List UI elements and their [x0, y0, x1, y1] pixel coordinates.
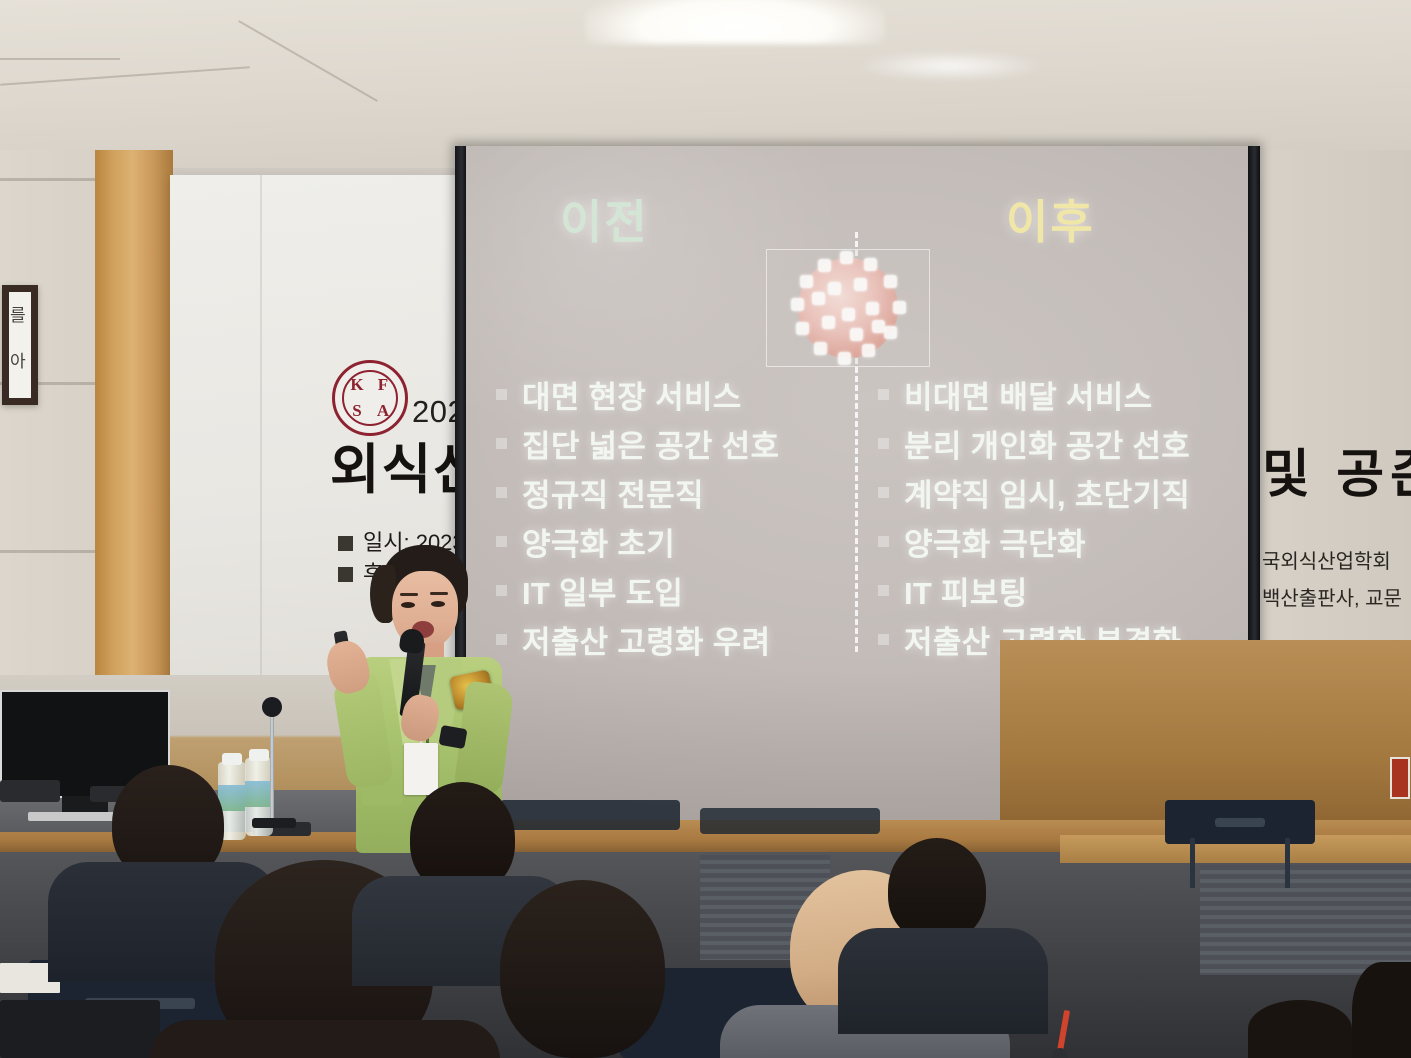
ceiling-light-secondary [860, 52, 1040, 80]
name-badge [404, 743, 438, 795]
window-blinds-right [1200, 865, 1411, 975]
coronavirus-image-box [766, 249, 930, 367]
gooseneck-microphone-stand [270, 705, 274, 823]
square-bullet-icon [878, 389, 889, 400]
bottle-label [218, 785, 246, 811]
picture-text-bottom: 아 [10, 352, 28, 372]
square-bullet-icon [878, 536, 889, 547]
square-bullet-icon [496, 487, 507, 498]
banner-publisher-line: 백산출판사, 교문 [1262, 582, 1402, 611]
list-item: 비대면 배달 서비스 [878, 372, 1190, 417]
list-item: 양극화 극단화 [878, 519, 1190, 564]
square-bullet-icon [496, 389, 507, 400]
square-bullet-icon [878, 487, 889, 498]
framed-picture: 를 아 [2, 285, 38, 405]
bottle-cap [222, 753, 242, 765]
square-bullet-icon [496, 438, 507, 449]
banner-org-line: 국외식산업학회 [1262, 545, 1391, 574]
banner-title-right: 및 공존 [1262, 432, 1411, 507]
logo-letter-a: A [377, 401, 389, 421]
list-item: 정규직 전문직 [496, 470, 779, 515]
seminar-room-photo: 를 아 K F S A 2023년 외식산 일시: 2023년 후원 및 공존 … [0, 0, 1411, 1058]
square-bullet-icon [878, 634, 889, 645]
square-bullet-icon [878, 585, 889, 596]
chair-handle-slot [1215, 818, 1265, 827]
bottle-cap [249, 749, 269, 761]
coronavirus-icon [798, 258, 898, 358]
column-heading-after: 이후 [1006, 186, 1095, 252]
ceiling-light [585, 0, 885, 44]
laptop [0, 1000, 160, 1058]
list-item: IT 피보팅 [878, 568, 1190, 613]
list-item: 분리 개인화 공간 선호 [878, 421, 1190, 466]
picture-text-top: 를 [10, 306, 28, 326]
desk-equipment [0, 780, 60, 802]
logo-letter-k: K [350, 375, 363, 395]
chair [700, 808, 880, 834]
wristwatch-icon [438, 725, 467, 749]
chair [500, 800, 680, 830]
pen-holder [1052, 1048, 1068, 1058]
microphone-head-icon [262, 697, 282, 717]
bottle-label [245, 781, 273, 807]
list-item: 계약직 임시, 초단기직 [878, 470, 1190, 515]
list-item: 대면 현장 서비스 [496, 372, 779, 417]
column-heading-before: 이전 [560, 186, 649, 252]
bullet-list-after: 비대면 배달 서비스 분리 개인화 공간 선호 계약직 임시, 초단기직 양극화… [878, 372, 1190, 666]
list-item: 집단 넓은 공간 선호 [496, 421, 779, 466]
square-bullet-icon [878, 438, 889, 449]
logo-letter-f: F [378, 375, 388, 395]
logo-letter-s: S [352, 401, 361, 421]
wall-sign-red [1390, 757, 1410, 799]
microphone-base [252, 818, 296, 828]
